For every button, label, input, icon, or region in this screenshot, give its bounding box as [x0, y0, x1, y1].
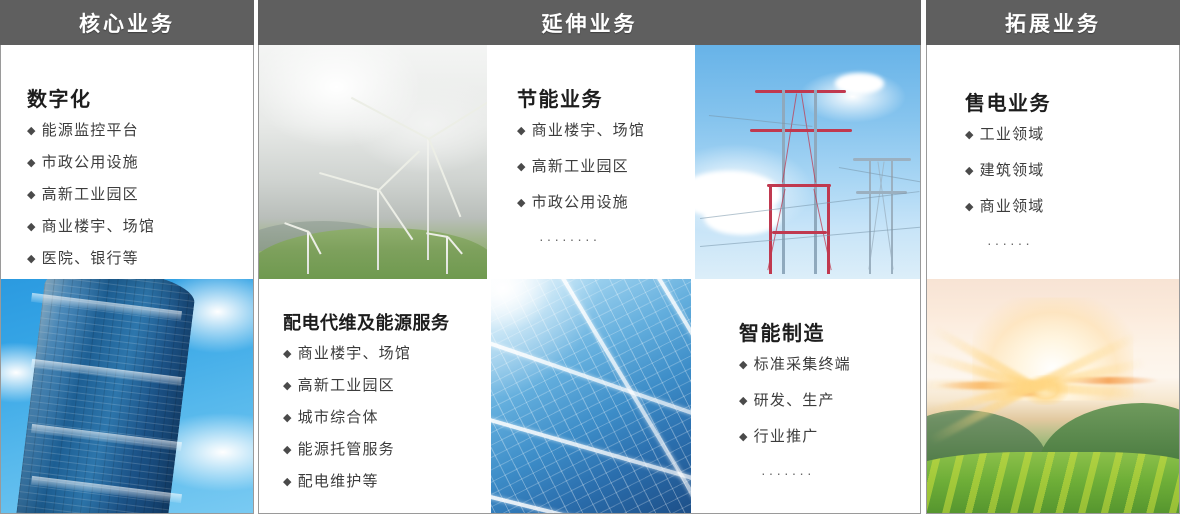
- photo-decoration: [319, 172, 379, 191]
- diamond-bullet-icon: ◆: [965, 166, 975, 177]
- diamond-bullet-icon: ◆: [965, 130, 975, 141]
- card-list-intelligent-manufacturing: ◆标准采集终端 ◆研发、生产 ◆行业推广: [739, 357, 920, 444]
- photo-decoration: [378, 190, 413, 241]
- list-item: ◆行业推广: [739, 429, 920, 444]
- photo-decoration: [351, 96, 430, 139]
- list-item-label: 高新工业园区: [298, 378, 395, 393]
- list-item: ◆高新工业园区: [517, 159, 691, 174]
- card-intelligent-manufacturing: 智能制造 ◆标准采集终端 ◆研发、生产 ◆行业推广 ·······: [695, 279, 920, 513]
- diamond-bullet-icon: ◆: [27, 254, 37, 265]
- wind-turbine-icon: [291, 232, 325, 274]
- photo-decoration: [447, 236, 463, 254]
- list-item: ◆能源监控平台: [27, 123, 253, 138]
- card-title-intelligent-manufacturing: 智能制造: [739, 317, 920, 346]
- diamond-bullet-icon: ◆: [517, 198, 527, 209]
- list-item: ◆商业领域: [965, 199, 1179, 214]
- wind-turbine-icon: [432, 237, 462, 274]
- diamond-bullet-icon: ◆: [517, 162, 527, 173]
- diamond-bullet-icon: ◆: [739, 432, 749, 443]
- list-item: ◆能源托管服务: [283, 442, 487, 457]
- tower-structure-icon: [754, 78, 849, 275]
- column-header-extended: 延伸业务: [258, 0, 921, 45]
- list-item-label: 标准采集终端: [754, 357, 851, 372]
- photo-decoration: [429, 95, 487, 139]
- list-item-label: 商业楼宇、场馆: [532, 123, 645, 138]
- list-item: ◆标准采集终端: [739, 357, 920, 372]
- photo-decoration: [446, 237, 448, 274]
- column-header-expansion: 拓展业务: [926, 0, 1180, 45]
- list-item: ◆医院、银行等: [27, 251, 253, 266]
- diamond-bullet-icon: ◆: [965, 202, 975, 213]
- card-list-energy-saving: ◆商业楼宇、场馆 ◆高新工业园区 ◆市政公用设施: [517, 123, 691, 210]
- list-item: ◆建筑领域: [965, 163, 1179, 178]
- card-list-power-distribution-service: ◆商业楼宇、场馆 ◆高新工业园区 ◆城市综合体 ◆能源托管服务 ◆配电维护等: [283, 346, 487, 489]
- card-title-energy-saving: 节能业务: [517, 83, 691, 112]
- card-electricity-sales: 售电业务 ◆工业领域 ◆建筑领域 ◆商业领域 ······: [927, 45, 1179, 279]
- column-header-core: 核心业务: [0, 0, 254, 45]
- list-item-label: 能源监控平台: [42, 123, 139, 138]
- diamond-bullet-icon: ◆: [283, 349, 293, 360]
- diamond-bullet-icon: ◆: [739, 396, 749, 407]
- list-item-label: 商业楼宇、场馆: [298, 346, 411, 361]
- diamond-bullet-icon: ◆: [517, 126, 527, 137]
- card-title-power-distribution-service: 配电代维及能源服务: [283, 309, 487, 335]
- card-ellipsis-electricity-sales: ······: [965, 235, 1179, 251]
- wind-turbine-icon: [341, 190, 415, 270]
- list-item-label: 市政公用设施: [532, 195, 629, 210]
- tower-structure-icon: [853, 148, 912, 274]
- list-item-label: 商业楼宇、场馆: [42, 219, 155, 234]
- column-body-extended: 节能业务 ◆商业楼宇、场馆 ◆高新工业园区 ◆市政公用设施 ········: [258, 45, 921, 514]
- list-item: ◆配电维护等: [283, 474, 487, 489]
- diamond-bullet-icon: ◆: [27, 190, 37, 201]
- photo-decoration: [755, 90, 846, 93]
- card-list-electricity-sales: ◆工业领域 ◆建筑领域 ◆商业领域: [965, 127, 1179, 214]
- list-item: ◆商业楼宇、场馆: [283, 346, 487, 361]
- list-item: ◆工业领域: [965, 127, 1179, 142]
- photo-decoration: [427, 139, 429, 261]
- list-item-label: 研发、生产: [754, 393, 835, 408]
- list-item-label: 商业领域: [980, 199, 1045, 214]
- card-digitalization: 数字化 ◆能源监控平台 ◆市政公用设施 ◆高新工业园区 ◆商业楼宇、场馆 ◆医院…: [1, 45, 253, 279]
- list-item-label: 建筑领域: [980, 163, 1045, 178]
- photo-decoration: [853, 158, 912, 161]
- diamond-bullet-icon: ◆: [283, 445, 293, 456]
- column-header-core-label: 核心业务: [79, 8, 175, 38]
- diamond-bullet-icon: ◆: [283, 381, 293, 392]
- list-item: ◆高新工业园区: [27, 187, 253, 202]
- diamond-bullet-icon: ◆: [739, 360, 749, 371]
- list-item: ◆市政公用设施: [27, 155, 253, 170]
- list-item: ◆市政公用设施: [517, 195, 691, 210]
- column-header-extended-label: 延伸业务: [542, 8, 638, 38]
- list-item-label: 医院、银行等: [42, 251, 139, 266]
- column-body-core: 数字化 ◆能源监控平台 ◆市政公用设施 ◆高新工业园区 ◆商业楼宇、场馆 ◆医院…: [0, 45, 254, 514]
- column-extended-business: 延伸业务: [258, 0, 921, 514]
- list-item-label: 高新工业园区: [42, 187, 139, 202]
- list-item-label: 高新工业园区: [532, 159, 629, 174]
- list-item-label: 工业领域: [980, 127, 1045, 142]
- diamond-bullet-icon: ◆: [283, 477, 293, 488]
- card-list-digitalization: ◆能源监控平台 ◆市政公用设施 ◆高新工业园区 ◆商业楼宇、场馆 ◆医院、银行等: [27, 123, 253, 266]
- card-ellipsis-energy-saving: ········: [517, 231, 691, 247]
- photo-decoration: [377, 190, 379, 270]
- card-ellipsis-intelligent-manufacturing: ·······: [739, 465, 920, 481]
- column-expansion-business: 拓展业务 售电业务 ◆工业领域 ◆建筑领域 ◆商业领域 ······: [926, 0, 1180, 514]
- list-item-label: 配电维护等: [298, 474, 379, 489]
- photo-decoration: [308, 232, 322, 255]
- diamond-bullet-icon: ◆: [27, 126, 37, 137]
- list-item: ◆城市综合体: [283, 410, 487, 425]
- card-title-digitalization: 数字化: [27, 83, 253, 112]
- photo-decoration: [428, 138, 461, 217]
- photo-decoration: [772, 231, 827, 234]
- list-item-label: 行业推广: [754, 429, 819, 444]
- list-item: ◆高新工业园区: [283, 378, 487, 393]
- diamond-bullet-icon: ◆: [283, 413, 293, 424]
- photo-solar-panel-array: [491, 279, 691, 513]
- list-item: ◆商业楼宇、场馆: [517, 123, 691, 138]
- list-item-label: 能源托管服务: [298, 442, 395, 457]
- photo-decoration: [491, 279, 599, 396]
- list-item: ◆研发、生产: [739, 393, 920, 408]
- photo-decoration: [307, 232, 309, 274]
- card-energy-saving: 节能业务 ◆商业楼宇、场馆 ◆高新工业园区 ◆市政公用设施 ········: [491, 45, 691, 279]
- photo-wind-turbine-farm: [259, 45, 487, 279]
- column-core-business: 核心业务 数字化 ◆能源监控平台 ◆市政公用设施 ◆高新工业园区 ◆商业楼宇、场…: [0, 0, 254, 514]
- photo-skyscraper-glass-blue: [1, 279, 253, 513]
- card-title-electricity-sales: 售电业务: [965, 87, 1179, 116]
- photo-decoration: [767, 184, 831, 187]
- business-structure-diagram: 核心业务 数字化 ◆能源监控平台 ◆市政公用设施 ◆高新工业园区 ◆商业楼宇、场…: [0, 0, 1180, 514]
- list-item-label: 城市综合体: [298, 410, 379, 425]
- photo-decoration: [750, 129, 852, 132]
- list-item: ◆商业楼宇、场馆: [27, 219, 253, 234]
- diamond-bullet-icon: ◆: [27, 158, 37, 169]
- column-header-expansion-label: 拓展业务: [1005, 8, 1101, 38]
- photo-transmission-tower: [695, 45, 920, 279]
- diamond-bullet-icon: ◆: [27, 222, 37, 233]
- photo-decoration: [927, 452, 1179, 513]
- column-body-expansion: 售电业务 ◆工业领域 ◆建筑领域 ◆商业领域 ······: [926, 45, 1180, 514]
- photo-sunrise-green-mountains: [927, 279, 1179, 513]
- card-power-distribution-service: 配电代维及能源服务 ◆商业楼宇、场馆 ◆高新工业园区 ◆城市综合体 ◆能源托管服…: [259, 279, 487, 513]
- list-item-label: 市政公用设施: [42, 155, 139, 170]
